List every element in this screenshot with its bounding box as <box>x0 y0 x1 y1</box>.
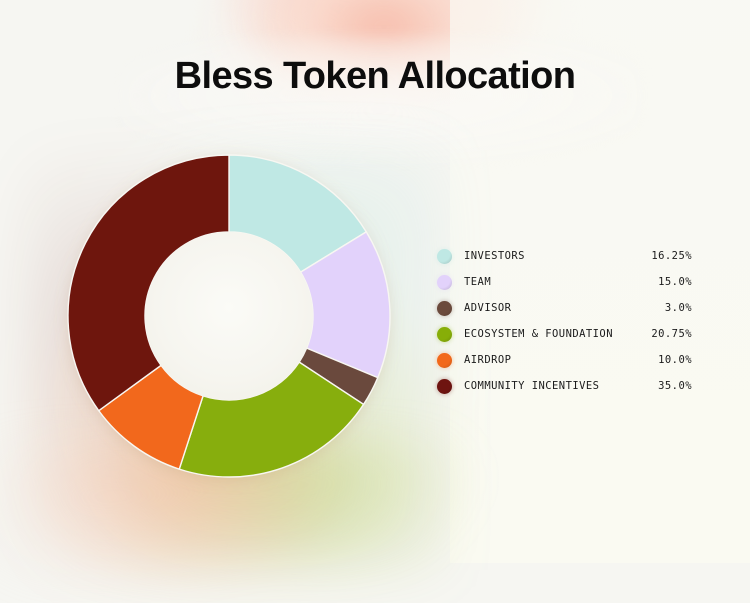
chart-legend: INVESTORS16.25%TEAM15.0%ADVISOR3.0%ECOSY… <box>437 243 692 399</box>
legend-value: 20.75% <box>651 328 692 340</box>
legend-value: 3.0% <box>665 302 692 314</box>
legend-label: ECOSYSTEM & FOUNDATION <box>464 328 613 340</box>
legend-swatch-airdrop <box>437 353 452 368</box>
legend-value: 10.0% <box>658 354 692 366</box>
donut-chart <box>60 146 400 486</box>
legend-swatch-ecosystem-and-foundation <box>437 327 452 342</box>
legend-label: AIRDROP <box>464 354 511 366</box>
legend-label: INVESTORS <box>464 250 525 262</box>
legend-row[interactable]: COMMUNITY INCENTIVES35.0% <box>437 373 692 399</box>
legend-swatch-community-incentives <box>437 379 452 394</box>
page-title: Bless Token Allocation <box>0 55 750 98</box>
legend-swatch-investors <box>437 249 452 264</box>
legend-label: TEAM <box>464 276 491 288</box>
legend-value: 16.25% <box>651 250 692 262</box>
legend-label: ADVISOR <box>464 302 511 314</box>
legend-row[interactable]: INVESTORS16.25% <box>437 243 692 269</box>
legend-row[interactable]: ECOSYSTEM & FOUNDATION20.75% <box>437 321 692 347</box>
donut-chart-svg <box>60 146 400 486</box>
legend-swatch-advisor <box>437 301 452 316</box>
legend-value: 35.0% <box>658 380 692 392</box>
legend-row[interactable]: TEAM15.0% <box>437 269 692 295</box>
legend-row[interactable]: ADVISOR3.0% <box>437 295 692 321</box>
title-container: Bless Token Allocation <box>0 55 750 98</box>
legend-swatch-team <box>437 275 452 290</box>
legend-label: COMMUNITY INCENTIVES <box>464 380 599 392</box>
legend-value: 15.0% <box>658 276 692 288</box>
legend-row[interactable]: AIRDROP10.0% <box>437 347 692 373</box>
donut-center-hole <box>145 232 313 400</box>
